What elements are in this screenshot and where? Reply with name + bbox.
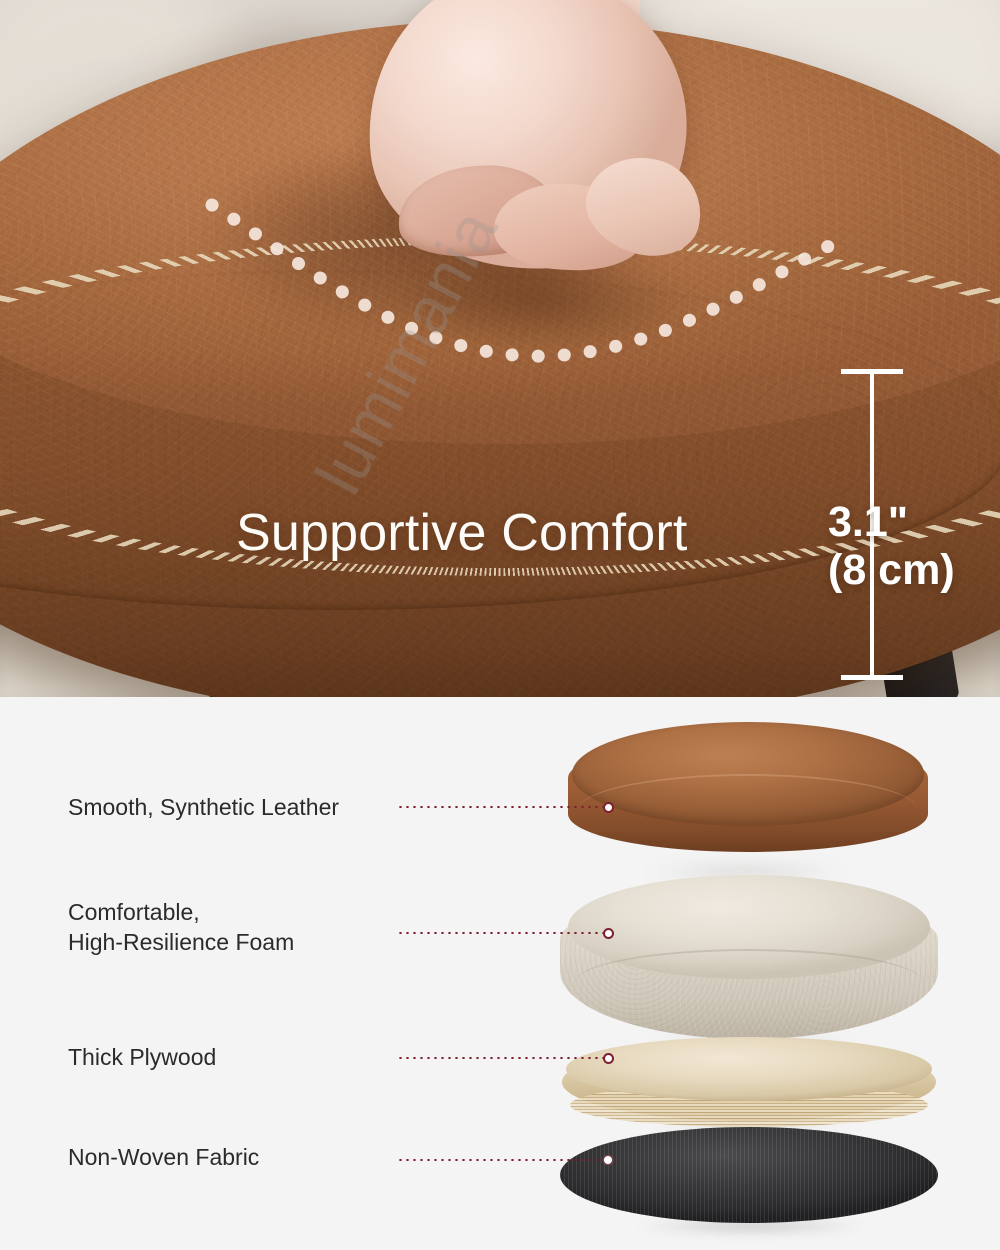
layer-label-non-woven-fabric: Non-Woven Fabric: [68, 1142, 259, 1172]
product-infographic-page: Supportive Comfort 3.1" (8 cm) lumimania: [0, 0, 1000, 1250]
leather-rim: [578, 774, 918, 846]
pressing-fist-icon: [368, 0, 708, 310]
layer-label-high-resilience-foam: Comfortable, High-Resilience Foam: [68, 897, 294, 957]
layer-label-thick-plywood: Thick Plywood: [68, 1042, 216, 1072]
dimension-inches: 3.1": [828, 498, 908, 546]
dimension-cap-bottom: [841, 675, 903, 680]
connector-dot-non-woven-fabric: [604, 1156, 612, 1164]
layer-label-synthetic-leather: Smooth, Synthetic Leather: [68, 792, 339, 822]
hero-photo-panel: Supportive Comfort 3.1" (8 cm) lumimania: [0, 0, 1000, 697]
layer-non-woven-fabric: [560, 1127, 938, 1237]
leader-line-high-resilience-foam: [397, 932, 612, 934]
fabric-texture: [560, 1127, 938, 1223]
dimension-label: 3.1" (8 cm): [828, 498, 1000, 594]
foam-seam: [576, 949, 922, 1015]
leader-line-synthetic-leather: [397, 806, 612, 808]
layer-thick-plywood: [562, 1037, 936, 1135]
plywood-top: [566, 1037, 932, 1101]
connector-dot-thick-plywood: [603, 1053, 614, 1064]
layer-high-resilience-foam: [560, 875, 938, 1043]
connector-dot-high-resilience-foam: [603, 928, 614, 939]
connector-dot-synthetic-leather: [603, 802, 614, 813]
leader-line-non-woven-fabric: [397, 1159, 605, 1161]
dimension-centimeters: (8 cm): [828, 546, 1000, 594]
dimension-cap-top: [841, 369, 903, 374]
page-title: Supportive Comfort: [236, 503, 688, 563]
layer-synthetic-leather: [568, 722, 928, 857]
leader-line-thick-plywood: [397, 1057, 612, 1059]
layer-breakdown-panel: Smooth, Synthetic Leather Comfortable, H…: [0, 697, 1000, 1250]
